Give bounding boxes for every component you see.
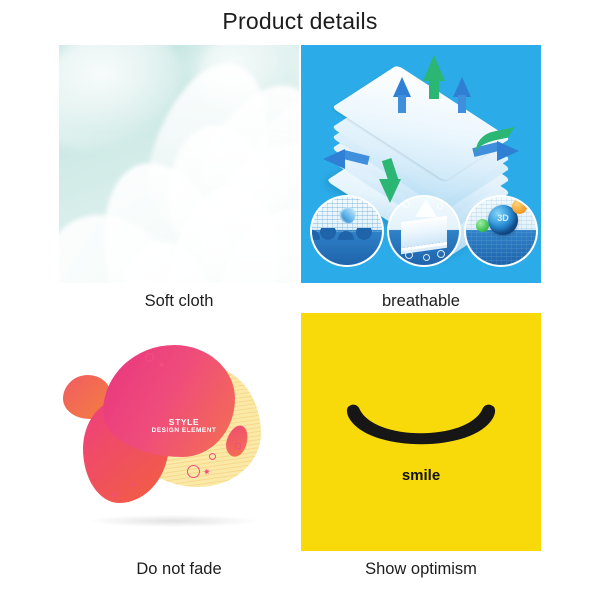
- vapor-arrow-shape: [415, 199, 437, 217]
- decor-square: [235, 443, 241, 449]
- decor-circle: [145, 353, 154, 362]
- style-subtitle: DESIGN ELEMENT: [129, 427, 239, 435]
- bubble-shape: [405, 251, 413, 259]
- airflow-up-arrow-icon: [429, 77, 439, 99]
- page-title: Product details: [0, 8, 600, 35]
- three-d-sphere-icon: [464, 195, 538, 267]
- product-caption: breathable: [301, 292, 541, 311]
- bubble-shape: [423, 254, 430, 261]
- decor-sparkle: ✷: [111, 491, 119, 500]
- decor-sparkle: ✷: [203, 468, 211, 477]
- water-wave-shape: [310, 228, 384, 240]
- fabric-layer-stack: [319, 53, 523, 205]
- product-card-breathable[interactable]: breathable: [301, 45, 541, 311]
- green-dot-shape: [476, 219, 489, 232]
- smile-group: smile: [301, 401, 541, 484]
- breathable-layers-diagram[interactable]: [301, 45, 541, 283]
- bubble-shape: [437, 250, 445, 258]
- bubble-shape: [437, 203, 443, 209]
- airflow-up-arrow-icon: [393, 77, 411, 97]
- air-permeable-icon: [387, 195, 461, 267]
- soft-feathers-photo[interactable]: [59, 45, 299, 283]
- airflow-up-arrow-icon: [458, 95, 466, 113]
- smile-curve-icon: [342, 401, 500, 451]
- decor-sparkle: ✷: [158, 361, 166, 370]
- yellow-smile-graphic[interactable]: smile: [301, 313, 541, 551]
- feature-icon-row: [308, 195, 534, 269]
- pink-blob: [103, 345, 235, 457]
- product-card-soft-cloth[interactable]: Soft cloth: [59, 45, 299, 311]
- drop-shadow: [89, 515, 257, 527]
- decor-circle: [209, 453, 216, 460]
- product-caption: Soft cloth: [59, 292, 299, 311]
- product-image-grid: Soft cloth: [0, 45, 600, 600]
- style-overlay-text: STYLE DESIGN ELEMENT: [129, 417, 239, 435]
- abstract-fluid-shapes[interactable]: ✷ ✷ ✷ ✷ STYLE DESIGN ELEMENT: [59, 313, 299, 551]
- product-caption: Show optimism: [301, 560, 541, 579]
- airflow-left-arrow-icon: [323, 149, 345, 169]
- product-caption: Do not fade: [59, 560, 299, 579]
- smile-label: smile: [301, 467, 541, 484]
- airflow-up-arrow-icon: [398, 95, 406, 113]
- orange-dot-shape: [512, 199, 527, 214]
- product-card-show-optimism[interactable]: smile Show optimism: [301, 313, 541, 579]
- style-title: STYLE: [129, 417, 239, 427]
- product-details-page: Product details Soft cloth: [0, 0, 600, 600]
- decor-circle: [187, 465, 200, 478]
- airflow-up-arrow-icon: [453, 77, 471, 97]
- product-card-do-not-fade[interactable]: ✷ ✷ ✷ ✷ STYLE DESIGN ELEMENT Do not fade: [59, 313, 299, 579]
- bubble-shape: [403, 201, 410, 208]
- mini-layer-stack: [401, 216, 447, 248]
- water-droplet-icon: [310, 195, 384, 267]
- decor-sparkle: ✷: [131, 483, 136, 489]
